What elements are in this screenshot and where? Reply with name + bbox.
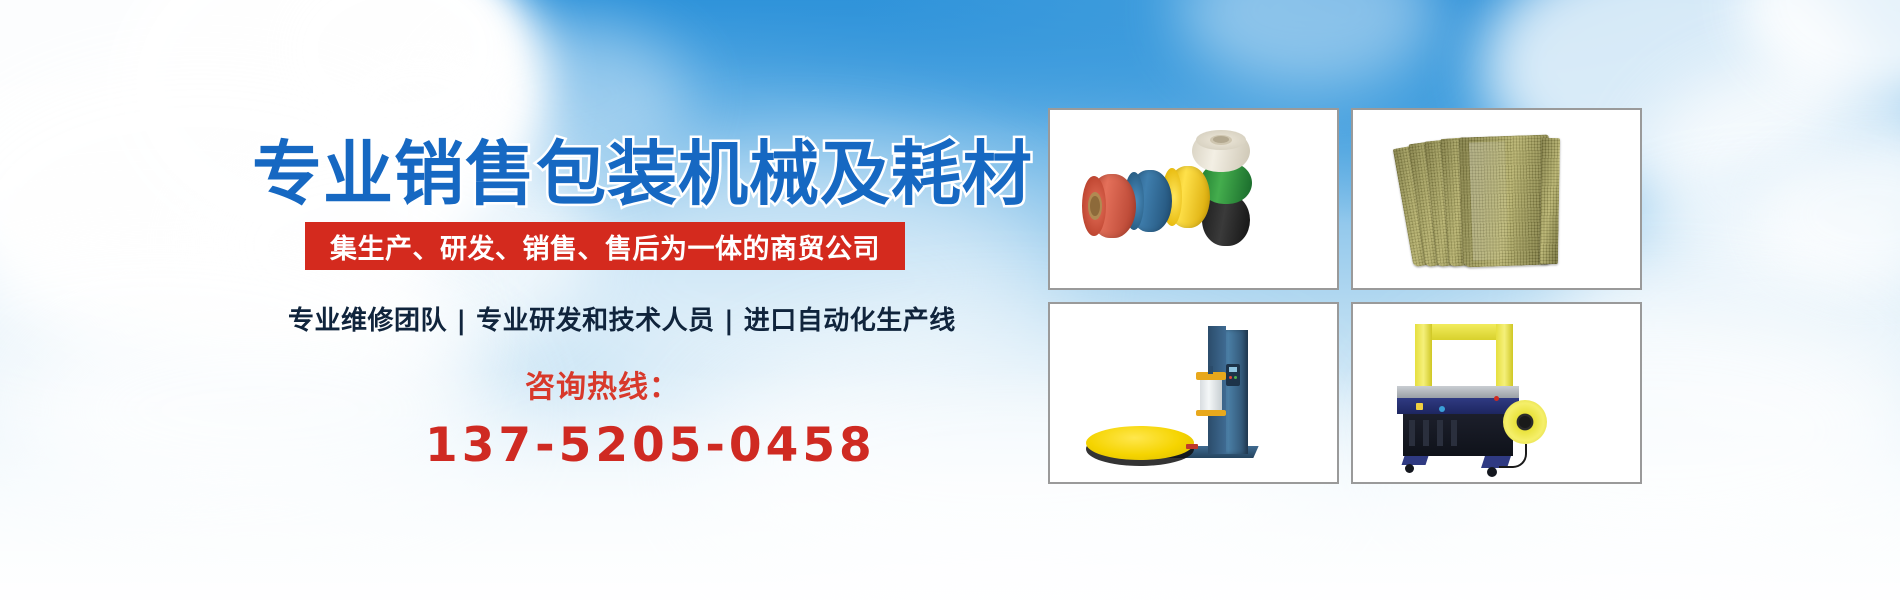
pp-strapping-rolls-image: [1050, 110, 1337, 288]
automatic-strapping-machine-image: [1353, 304, 1640, 482]
product-tile[interactable]: [1351, 302, 1642, 484]
woven-sacks-image: [1353, 110, 1640, 288]
banner-text-block: 专业销售包装机械及耗材 集生产、研发、销售、售后为一体的商贸公司 专业维修团队 …: [0, 0, 1040, 600]
pallet-stretch-wrapper-image: [1050, 304, 1337, 482]
hotline-label: 咨询热线：: [525, 362, 680, 406]
product-image-grid: [1048, 108, 1642, 488]
promotional-banner: 专业销售包装机械及耗材 集生产、研发、销售、售后为一体的商贸公司 专业维修团队 …: [0, 0, 1900, 600]
tagline-text: 集生产、研发、销售、售后为一体的商贸公司: [330, 227, 880, 266]
product-tile[interactable]: [1351, 108, 1642, 290]
hotline-phone-number[interactable]: 137-5205-0458: [425, 418, 876, 473]
tagline-red-bar: 集生产、研发、销售、售后为一体的商贸公司: [305, 222, 905, 270]
feature-list-text: 专业维修团队 | 专业研发和技术人员 | 进口自动化生产线: [288, 300, 956, 337]
product-tile[interactable]: [1048, 302, 1339, 484]
banner-headline: 专业销售包装机械及耗材: [252, 118, 1033, 219]
product-tile[interactable]: [1048, 108, 1339, 290]
